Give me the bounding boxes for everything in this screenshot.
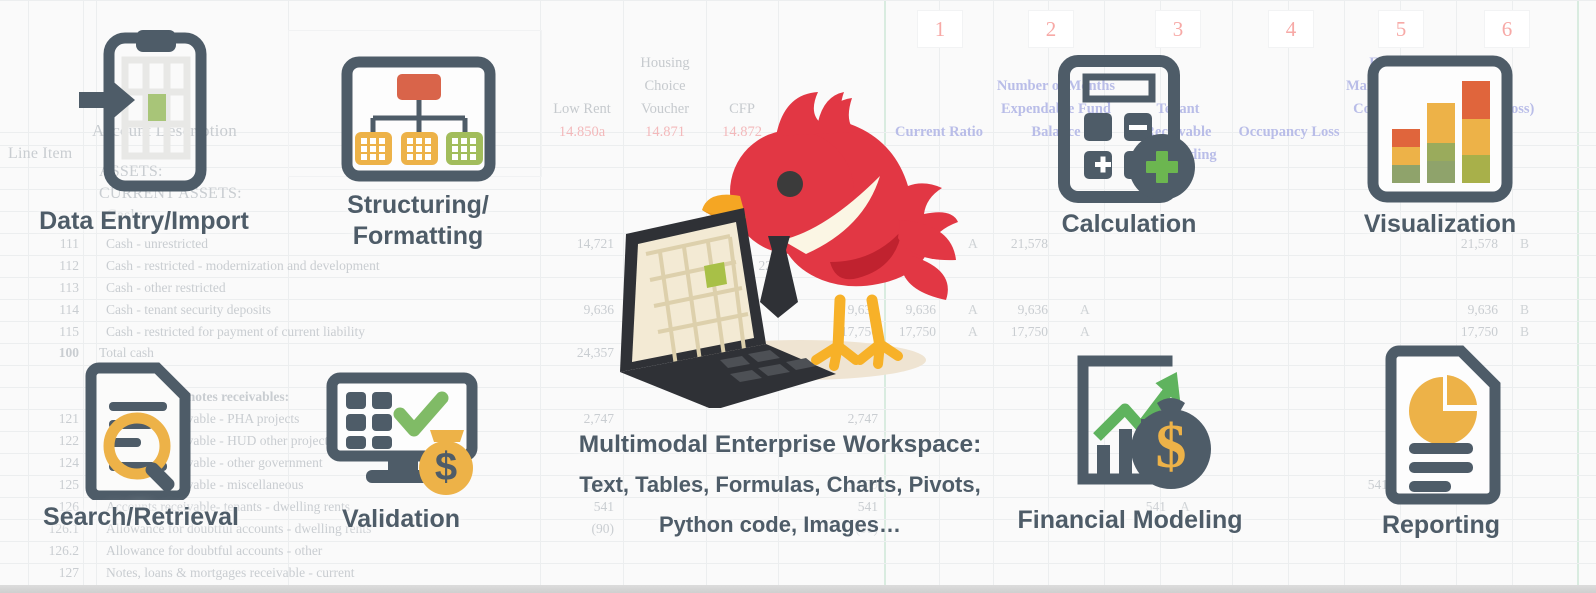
clipboard-table-import-icon xyxy=(79,30,209,200)
sheet-row-description: Total cash xyxy=(99,345,154,361)
sheet-flag: A xyxy=(968,236,978,252)
calculator-plus-icon xyxy=(1058,55,1200,203)
capability-search-retrieval: Search/Retrieval xyxy=(36,360,246,533)
svg-text:$: $ xyxy=(1156,413,1187,481)
center-caption-line-2: Text, Tables, Formulas, Charts, Pivots, xyxy=(450,465,1110,505)
sheet-flag: A xyxy=(968,324,978,340)
sheet-row-description: Allowance for doubtful accounts - other xyxy=(106,543,322,559)
sheet-value: 9,636 xyxy=(1000,302,1048,318)
capability-calculation: Calculation xyxy=(1040,55,1218,240)
sheet-value: 17,750 xyxy=(1000,324,1048,340)
ratio-number-box: 3 xyxy=(1155,10,1201,48)
mascot-illustration xyxy=(600,88,960,408)
capability-data-entry-import: Data Entry/Import xyxy=(24,30,264,237)
sheet-line-number: 111 xyxy=(34,236,79,252)
sheet-line-number: 127 xyxy=(34,565,79,581)
window-bottom-bar xyxy=(0,585,1596,593)
capability-label: Visualization xyxy=(1352,209,1528,240)
grid-hline xyxy=(0,0,1596,1)
capability-label: Data Entry/Import xyxy=(24,206,264,237)
red-cardinal-bird-with-laptop-icon xyxy=(600,88,960,408)
sheet-row-description: Cash - restricted - modernization and de… xyxy=(106,258,380,274)
grid-vline xyxy=(1288,0,1289,593)
grid-vline xyxy=(1344,0,1345,593)
sheet-line-number: 114 xyxy=(34,302,79,318)
grid-vline-section xyxy=(1577,0,1579,593)
center-caption: Multimodal Enterprise Workspace: Text, T… xyxy=(450,425,1110,545)
sheet-flag: B xyxy=(1520,324,1529,340)
sheet-flag: A xyxy=(1080,302,1090,318)
capability-structuring-formatting: Structuring/ Formatting xyxy=(320,56,516,251)
grid-hline xyxy=(0,563,1596,564)
sheet-line-number: 100 xyxy=(34,345,79,361)
sheet-flag: A xyxy=(1080,324,1090,340)
ratio-number-box: 6 xyxy=(1484,10,1530,48)
ratio-number-box: 5 xyxy=(1378,10,1424,48)
ratio-column-header: Occupancy Loss xyxy=(1234,121,1344,144)
sheet-flag: A xyxy=(968,302,978,318)
sheet-line-number: 115 xyxy=(34,324,79,340)
sheet-line-number: 113 xyxy=(34,280,79,296)
sheet-line-number: 112 xyxy=(34,258,79,274)
document-magnifier-icon xyxy=(75,360,207,500)
center-caption-line-3: Python code, Images… xyxy=(450,505,1110,545)
sheet-value: 9,636 xyxy=(1450,302,1498,318)
capability-reporting: Reporting xyxy=(1366,345,1516,541)
ratio-number-box: 2 xyxy=(1028,10,1074,48)
capability-label: Calculation xyxy=(1040,209,1218,240)
capability-label: Search/Retrieval xyxy=(36,502,246,533)
sheet-row-description: Notes, loans & mortgages receivable - cu… xyxy=(106,565,355,581)
ratio-number-box: 1 xyxy=(917,10,963,48)
workspace-infographic: Line Item Account Description ASSETS: CU… xyxy=(0,0,1596,593)
sheet-row-description: Cash - tenant security deposits xyxy=(106,302,271,318)
sheet-line-number: 126.2 xyxy=(34,543,79,559)
capability-label: Reporting xyxy=(1366,510,1516,541)
sheet-flag: B xyxy=(1520,302,1529,318)
hierarchy-tables-icon xyxy=(341,56,496,182)
stacked-bar-chart-icon xyxy=(1367,55,1513,203)
sheet-row-description: Cash - restricted for payment of current… xyxy=(106,324,365,340)
sheet-value: 17,750 xyxy=(1450,324,1498,340)
sheet-row-description: Cash - unrestricted xyxy=(106,236,208,252)
center-caption-line-1: Multimodal Enterprise Workspace: xyxy=(450,425,1110,465)
capability-label: Structuring/ Formatting xyxy=(320,190,516,251)
capability-visualization: Visualization xyxy=(1352,55,1528,240)
ratio-number-box: 4 xyxy=(1268,10,1314,48)
sheet-row-description: Cash - other restricted xyxy=(106,280,226,296)
document-pie-chart-icon xyxy=(1373,345,1509,508)
